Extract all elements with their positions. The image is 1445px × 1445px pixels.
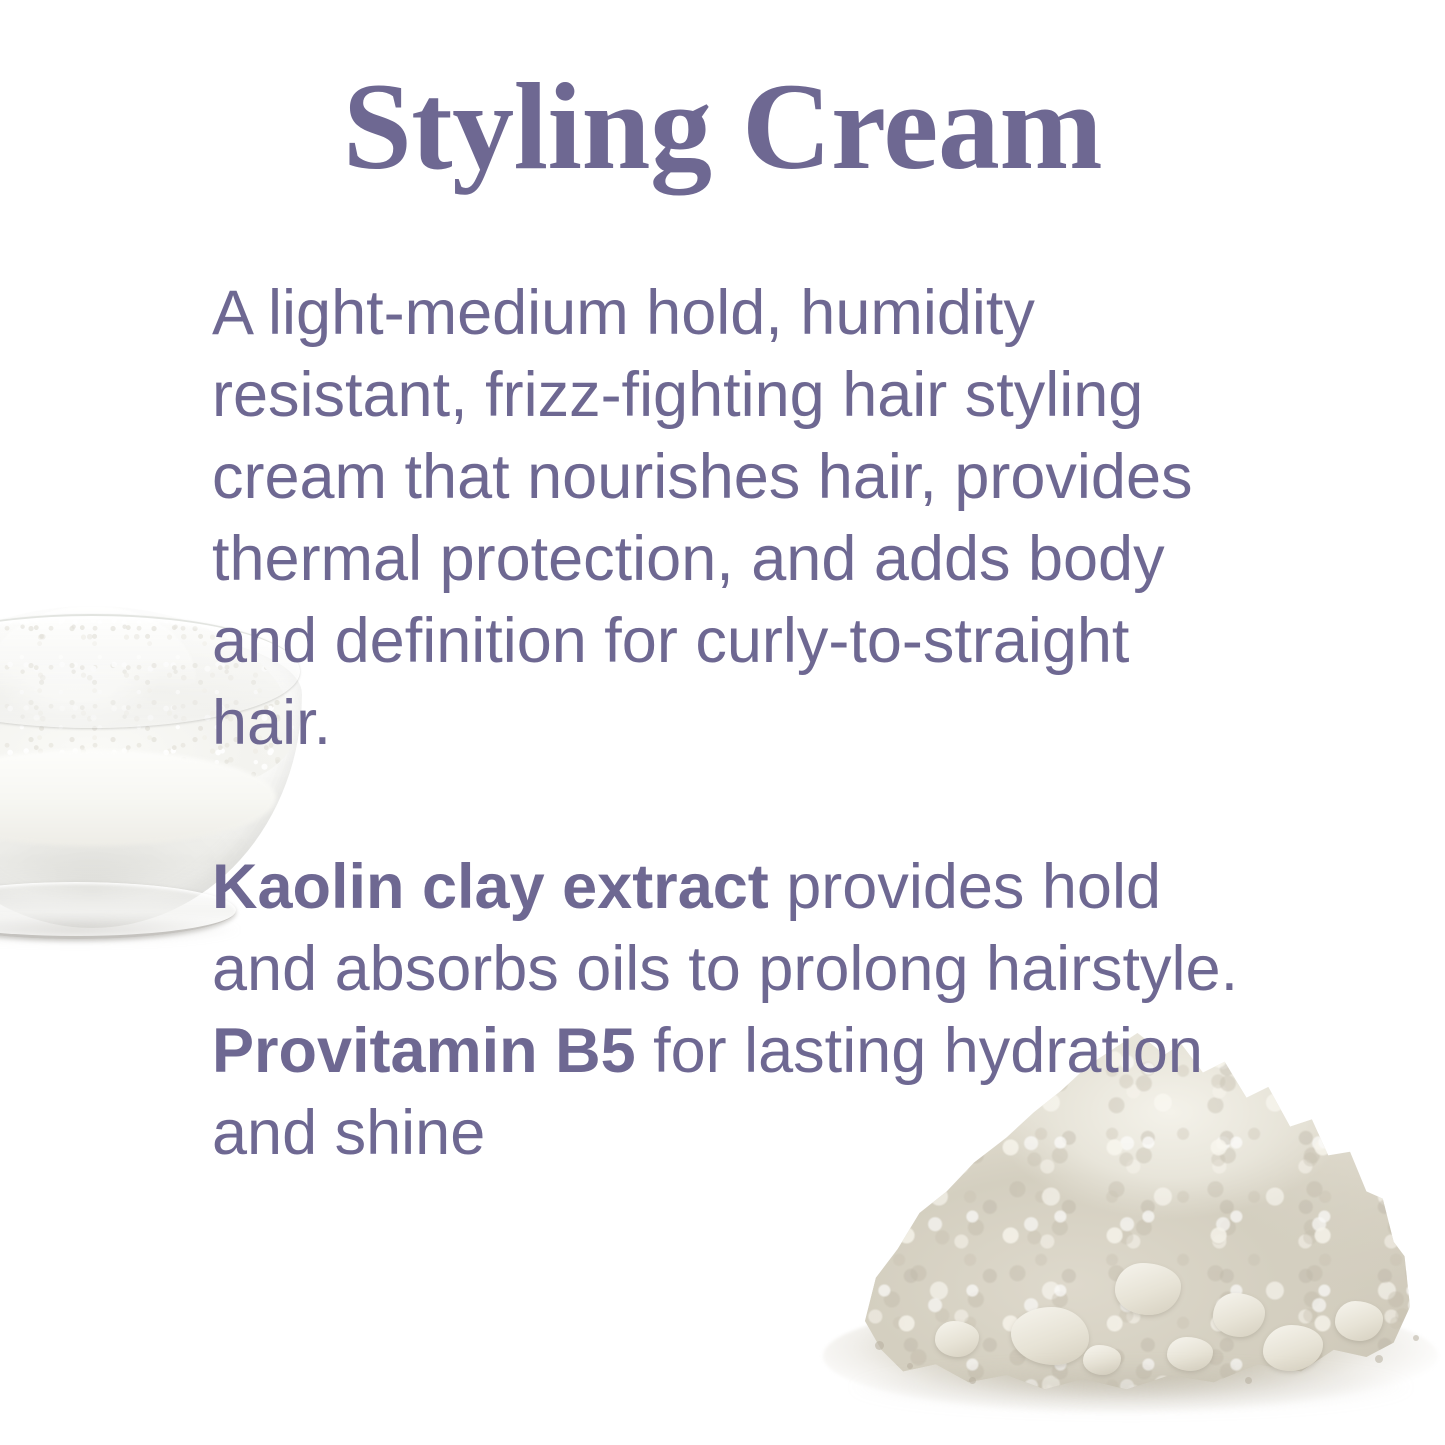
product-copy: A light-medium hold, humidity resistant,… (212, 272, 1252, 1174)
ingredient-kaolin-clay-extract: Kaolin clay extract provides hold and ab… (212, 846, 1252, 1010)
ingredient-name: Provitamin B5 (212, 1016, 636, 1086)
paragraph-spacer (212, 764, 1252, 846)
product-description: A light-medium hold, humidity resistant,… (212, 272, 1252, 764)
ingredient-name: Kaolin clay extract (212, 852, 769, 922)
ingredient-provitamin-b5: Provitamin B5 for lasting hydration and … (212, 1010, 1252, 1174)
page-title: Styling Cream (0, 62, 1445, 192)
product-detail-image: Styling Cream A light-medium hold, humid… (0, 0, 1445, 1445)
copy-layer: Styling Cream A light-medium hold, humid… (0, 0, 1445, 1445)
